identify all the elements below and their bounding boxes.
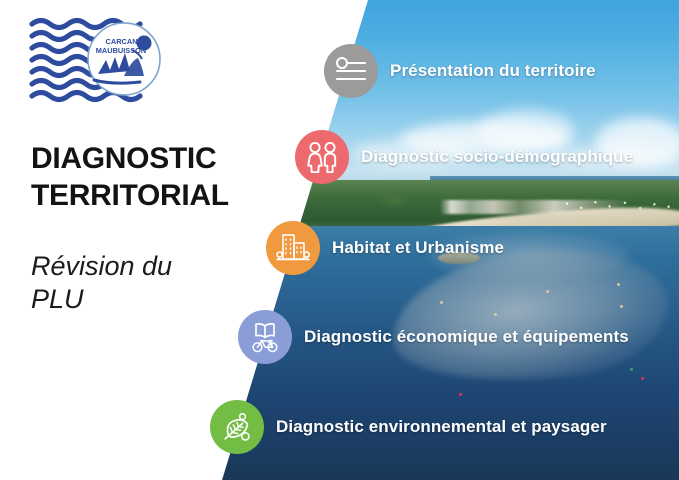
- two-people-icon: [295, 130, 349, 184]
- leaf-icon: [210, 400, 264, 454]
- sliders-list-icon: [324, 44, 378, 98]
- list-item-economique-equipements[interactable]: Diagnostic économique et équipements: [238, 310, 629, 364]
- list-item-habitat-urbanisme[interactable]: Habitat et Urbanisme: [266, 221, 504, 275]
- list-item-socio-demographique[interactable]: Diagnostic socio-démographique: [295, 130, 633, 184]
- list-item-label: Diagnostic économique et équipements: [304, 327, 629, 347]
- buildings-icon: [266, 221, 320, 275]
- list-item-label: Diagnostic environnemental et paysager: [276, 417, 607, 437]
- list-item-label: Diagnostic socio-démographique: [361, 147, 633, 167]
- book-bicycle-icon: [238, 310, 292, 364]
- list-item-label: Présentation du territoire: [390, 61, 596, 81]
- list-item-presentation[interactable]: Présentation du territoire: [324, 44, 596, 98]
- list-item-label: Habitat et Urbanisme: [332, 238, 504, 258]
- list-item-environnemental-paysager[interactable]: Diagnostic environnemental et paysager: [210, 400, 607, 454]
- slide-root: CARCANS MAUBUISSON DIAGNOSTIC TERRITORIA…: [0, 0, 679, 480]
- agenda-list: Présentation du territoire Diagnostic so…: [0, 0, 679, 480]
